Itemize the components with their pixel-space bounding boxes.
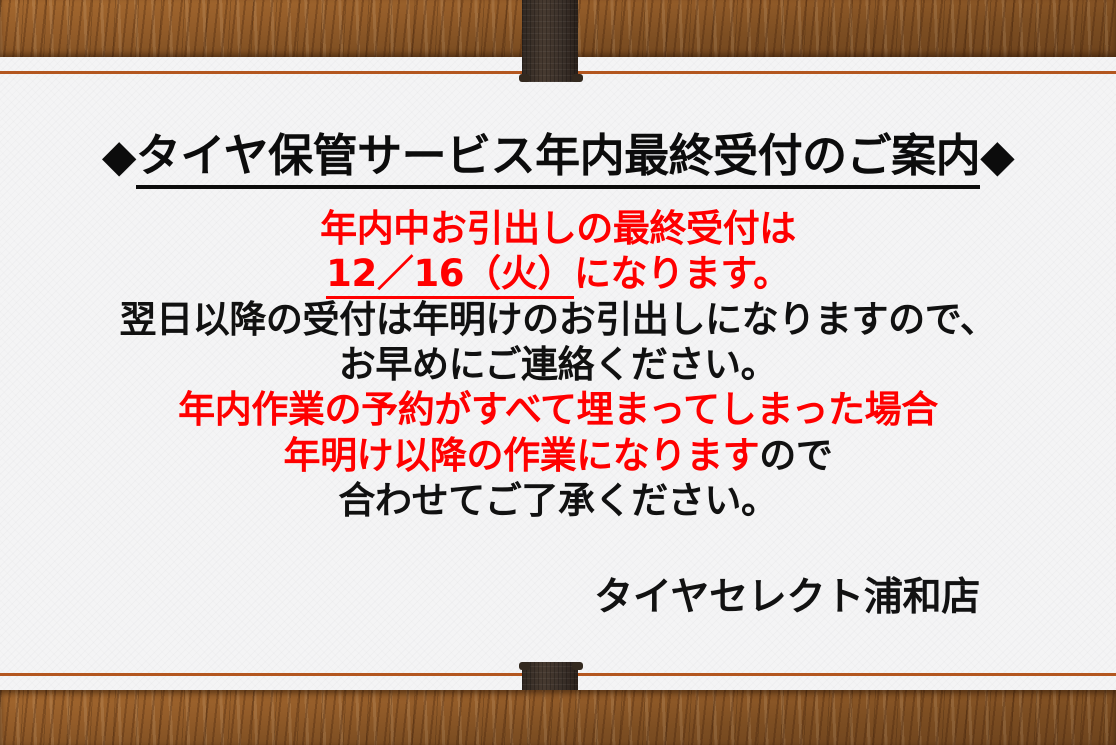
- store-signature: タイヤセレクト浦和店: [0, 524, 1116, 622]
- poster-content: ◆タイヤ保管サービス年内最終受付のご案内◆ 年内中お引出しの最終受付は 12／1…: [0, 76, 1116, 672]
- body-line-7: 合わせてご了承ください。: [0, 478, 1116, 523]
- body-line-2: 12／16（火）になります。: [0, 251, 1116, 296]
- deadline-date: 12／16（火）: [326, 252, 574, 299]
- body-line-3: 翌日以降の受付は年明けのお引出しになりますので、: [0, 297, 1116, 342]
- strap-foot-bottom-left: [519, 662, 530, 670]
- body-text-block: 年内中お引出しの最終受付は 12／16（火）になります。 翌日以降の受付は年明け…: [0, 180, 1116, 524]
- wood-band-bottom: [0, 690, 1116, 745]
- page-title: ◆タイヤ保管サービス年内最終受付のご案内◆: [0, 76, 1116, 180]
- title-diamond-right: ◆: [980, 129, 1014, 182]
- body-line-6-red: 年明け以降の作業になります: [283, 434, 759, 477]
- body-line-4: お早めにご連絡ください。: [0, 342, 1116, 387]
- deadline-date-tail: になります。: [574, 252, 790, 295]
- body-line-5: 年内作業の予約がすべて埋まってしまった場合: [0, 387, 1116, 432]
- title-underlined-text: タイヤ保管サービス年内最終受付のご案内: [136, 129, 980, 189]
- center-strap-top: [522, 0, 578, 82]
- strap-foot-bottom-right: [572, 662, 583, 670]
- body-line-6: 年明け以降の作業になりますので: [0, 433, 1116, 478]
- title-diamond-left: ◆: [102, 129, 136, 182]
- poster-canvas: ◆タイヤ保管サービス年内最終受付のご案内◆ 年内中お引出しの最終受付は 12／1…: [0, 0, 1116, 745]
- body-line-1: 年内中お引出しの最終受付は: [0, 206, 1116, 251]
- body-line-6-black: ので: [759, 434, 832, 477]
